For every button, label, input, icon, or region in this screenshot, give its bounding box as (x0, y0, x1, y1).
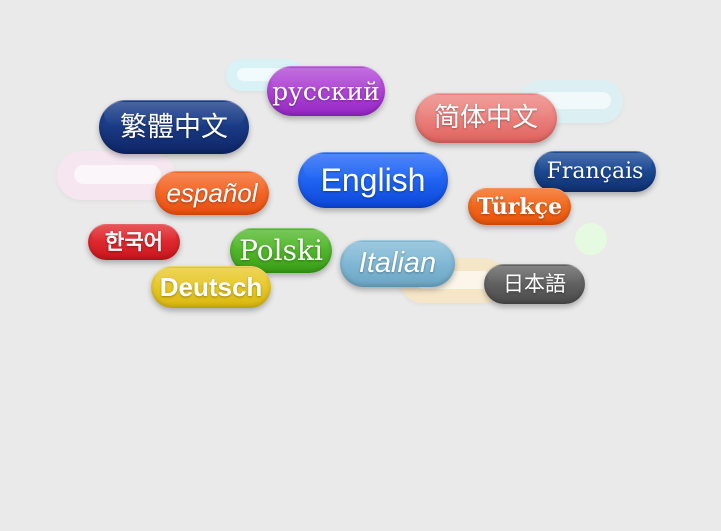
language-pill-korean[interactable]: 한국어 (88, 224, 180, 260)
language-label-french: Français (547, 161, 644, 183)
language-label-german: Deutsch (160, 274, 263, 300)
language-pill-japanese[interactable]: 日本語 (484, 264, 585, 304)
ghost-pill-pink-left-inner (74, 165, 161, 185)
language-label-english: English (321, 164, 426, 196)
language-pill-german[interactable]: Deutsch (151, 266, 271, 308)
language-label-japanese: 日本語 (503, 274, 566, 295)
language-label-traditional-chinese: 繁體中文 (120, 114, 228, 141)
language-label-simplified-chinese: 简体中文 (434, 105, 538, 131)
language-label-italian: Italian (359, 249, 436, 278)
language-label-korean: 한국어 (105, 232, 163, 253)
language-label-polish: Polski (239, 237, 323, 265)
language-label-turkish: Türkçe (477, 196, 562, 218)
language-pill-spanish[interactable]: español (155, 171, 269, 215)
ghost-circle-green (575, 223, 607, 255)
language-pill-traditional-chinese[interactable]: 繁體中文 (99, 100, 249, 154)
language-label-spanish: español (166, 180, 257, 206)
language-selector-canvas: русский繁體中文简体中文EnglishFrançaisespañolTür… (0, 0, 721, 531)
language-pill-english[interactable]: English (298, 152, 448, 208)
language-pill-turkish[interactable]: Türkçe (468, 188, 571, 225)
language-pill-russian[interactable]: русский (267, 66, 385, 116)
language-pill-french[interactable]: Français (534, 151, 656, 192)
language-pill-italian[interactable]: Italian (340, 240, 455, 287)
language-pill-simplified-chinese[interactable]: 简体中文 (415, 93, 557, 143)
language-label-russian: русский (272, 79, 380, 104)
